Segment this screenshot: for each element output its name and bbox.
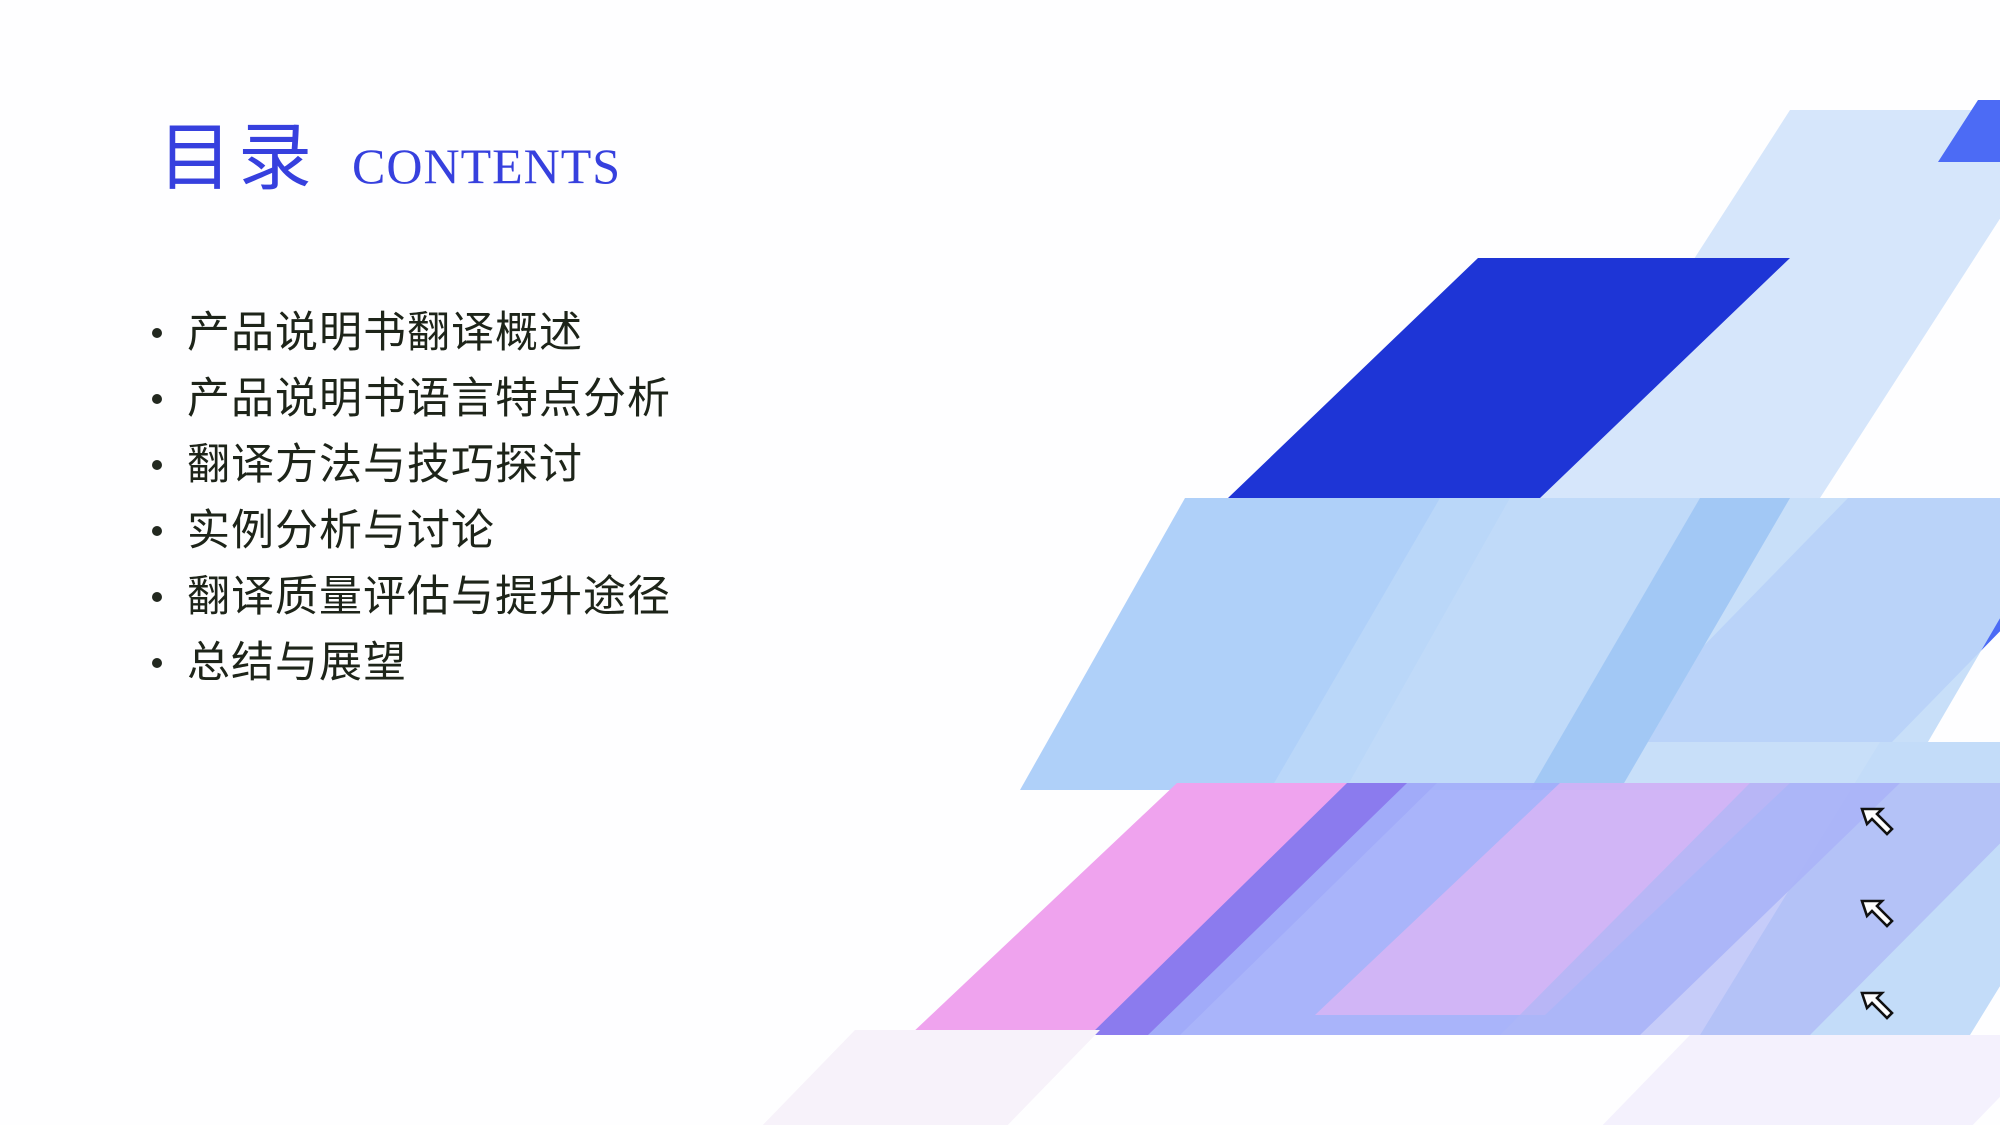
shape-violet-bottom — [1090, 783, 1437, 1035]
arrow-up-left-icon[interactable] — [1858, 989, 1898, 1029]
slide-canvas: 目录 CONTENTS 产品说明书翻译概述 产品说明书语言特点分析 翻译方法与技… — [0, 0, 2000, 1125]
list-item[interactable]: 翻译方法与技巧探讨 — [152, 432, 671, 498]
list-item[interactable]: 产品说明书语言特点分析 — [152, 366, 671, 432]
shape-periwinkle-band — [1148, 783, 1900, 1035]
bullet-dot-icon — [152, 658, 162, 668]
shape-royal-blue-main — [1228, 258, 1790, 498]
shape-bright-sliver-topright — [1938, 100, 2000, 162]
shape-pale-blue-bottomright — [1700, 742, 2000, 1035]
arrow-icon-stack — [1858, 805, 1898, 1029]
table-of-contents-list: 产品说明书翻译概述 产品说明书语言特点分析 翻译方法与技巧探讨 实例分析与讨论 … — [152, 300, 671, 696]
list-item[interactable]: 总结与展望 — [152, 630, 671, 696]
shape-ice-band-top — [1540, 110, 2000, 498]
shape-sky-band-left — [1020, 498, 1510, 790]
toc-item-label: 总结与展望 — [187, 642, 407, 685]
shape-near-white-bottom — [690, 1030, 1100, 1125]
list-item[interactable]: 翻译质量评估与提升途径 — [152, 564, 671, 630]
shape-pale-pink-bottomright — [1315, 783, 1790, 1015]
shape-sky-overlap-wedge — [1530, 498, 1790, 790]
page-title: 目录 CONTENTS — [158, 122, 621, 196]
shape-bright-blue-right — [1610, 498, 2000, 742]
page-title-en: CONTENTS — [352, 141, 621, 191]
toc-item-label: 实例分析与讨论 — [187, 510, 495, 553]
arrow-up-left-icon[interactable] — [1858, 897, 1898, 937]
bullet-dot-icon — [152, 328, 162, 338]
shape-sky-band-mid — [1270, 498, 1790, 790]
toc-item-label: 产品说明书语言特点分析 — [187, 378, 671, 421]
bullet-dot-icon — [152, 460, 162, 470]
toc-item-label: 产品说明书翻译概述 — [187, 312, 583, 355]
page-title-cn: 目录 — [158, 122, 318, 196]
shape-sky-band-right — [1530, 498, 2000, 790]
toc-item-label: 翻译方法与技巧探讨 — [187, 444, 583, 487]
bullet-dot-icon — [152, 526, 162, 536]
bullet-dot-icon — [152, 394, 162, 404]
list-item[interactable]: 实例分析与讨论 — [152, 498, 671, 564]
toc-item-label: 翻译质量评估与提升途径 — [187, 576, 671, 619]
shape-faint-bottom-right — [1530, 1035, 2000, 1125]
arrow-up-left-icon[interactable] — [1858, 805, 1898, 845]
shape-pale-violet-right — [1500, 783, 2000, 1035]
bullet-dot-icon — [152, 592, 162, 602]
shape-pink-bottom — [910, 783, 1377, 1035]
list-item[interactable]: 产品说明书翻译概述 — [152, 300, 671, 366]
